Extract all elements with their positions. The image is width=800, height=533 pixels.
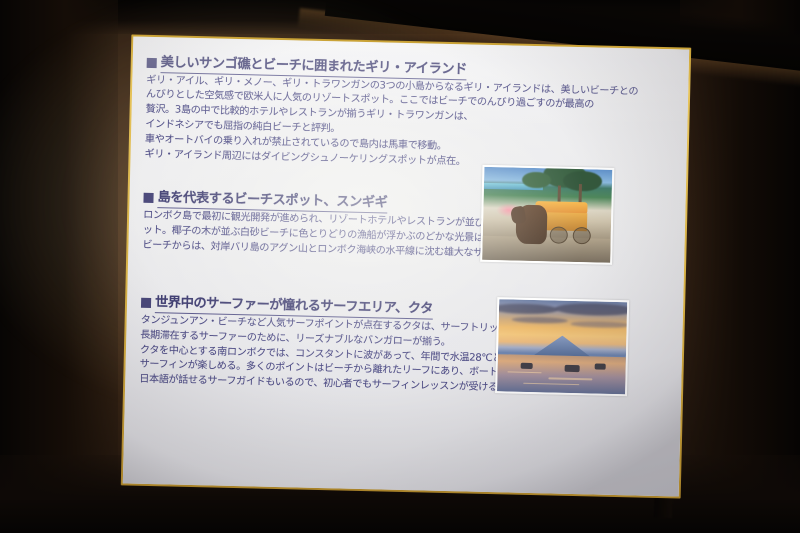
photo-artwork: [497, 299, 627, 394]
slide-surface: 美しいサンゴ礁とビーチに囲まれたギリ・アイランド ギリ・アイル、ギリ・メノー、ギ…: [123, 37, 689, 497]
boat: [595, 363, 605, 370]
sea-surface: [497, 354, 626, 394]
square-bullet-icon: [147, 58, 157, 68]
slide-content: 美しいサンゴ礁とビーチに囲まれたギリ・アイランド ギリ・アイル、ギリ・メノー、ギ…: [137, 53, 675, 485]
photo-artwork: [482, 167, 612, 263]
road: [482, 236, 611, 263]
photo-inner: [482, 167, 612, 263]
square-bullet-icon: [141, 298, 151, 308]
boat: [521, 362, 533, 369]
boat: [564, 365, 580, 372]
section-gili-island: 美しいサンゴ礁とビーチに囲まれたギリ・アイランド ギリ・アイル、ギリ・メノー、ギ…: [144, 55, 674, 175]
cloud: [497, 303, 558, 315]
projected-slide-photograph: 美しいサンゴ礁とビーチに囲まれたギリ・アイランド ギリ・アイル、ギリ・メノー、ギ…: [0, 0, 800, 533]
cloud: [512, 316, 568, 324]
volcano-sunset-sea-photo: [495, 297, 629, 396]
horse-carriage-beach-photo: [480, 165, 614, 265]
presentation-slide: 美しいサンゴ礁とビーチに囲まれたギリ・アイランド ギリ・アイル、ギリ・メノー、ギ…: [121, 34, 691, 498]
section-1-body: ギリ・アイル、ギリ・メノー、ギリ・トラワンガンの3つの小島からなるギリ・アイラン…: [144, 73, 674, 174]
palm-frond: [563, 171, 602, 192]
cloud: [555, 302, 627, 316]
photo-inner: [497, 299, 627, 394]
cloud: [570, 321, 627, 328]
square-bullet-icon: [143, 193, 153, 203]
palm-frond: [522, 171, 551, 188]
volcano-silhouette: [534, 335, 591, 357]
